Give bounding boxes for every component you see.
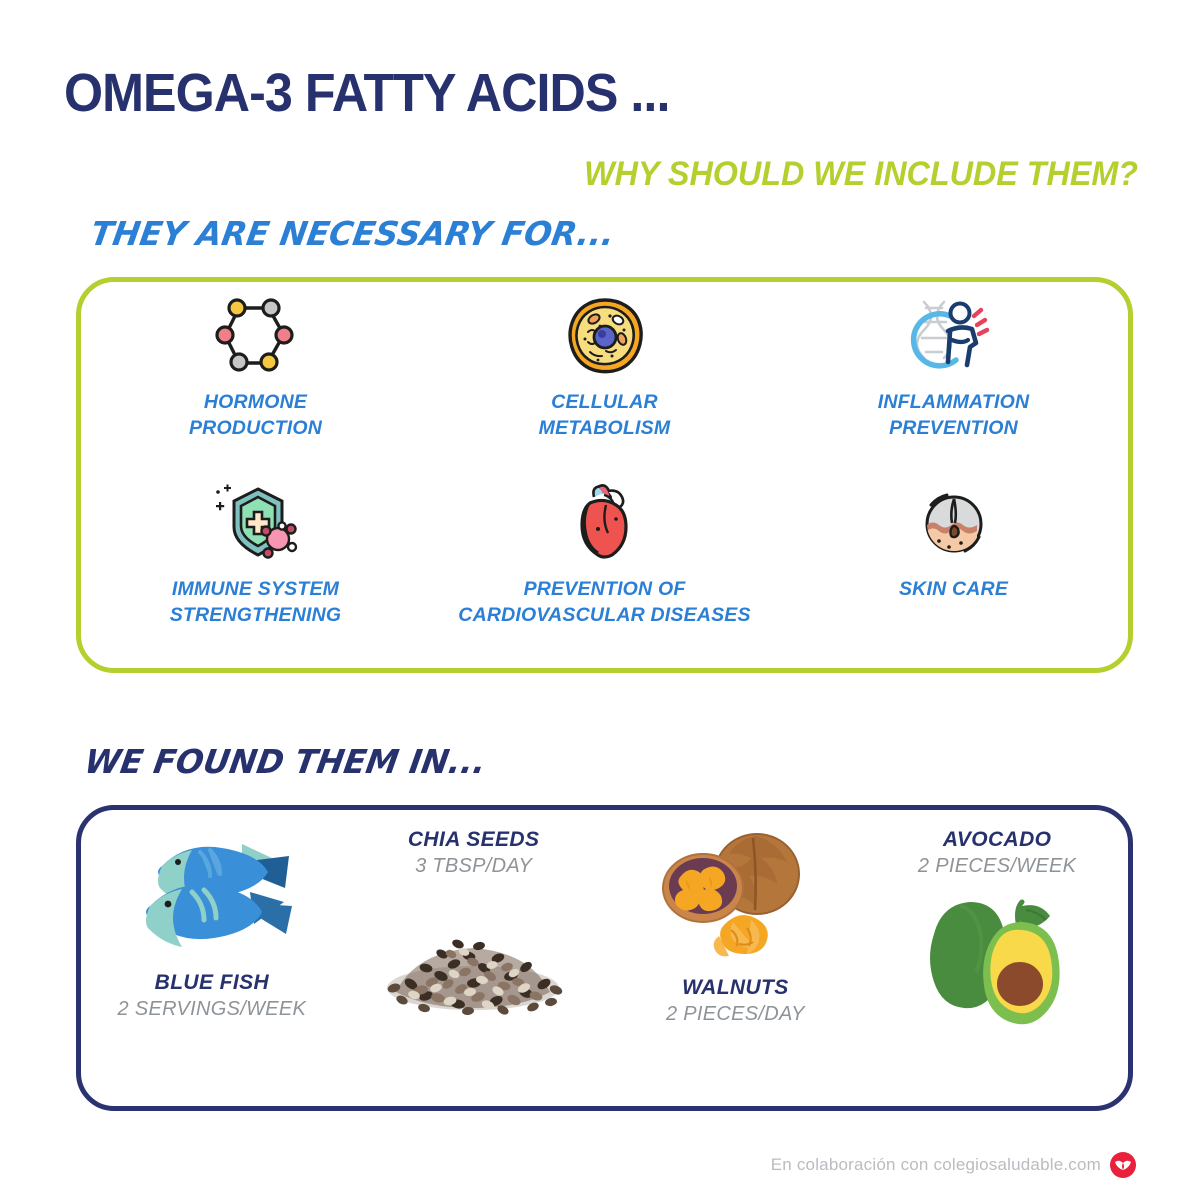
skin-layers-icon — [909, 481, 999, 567]
benefit-label: CELLULAR METABOLISM — [539, 390, 671, 441]
food-dose: 3 TBSP/DAY — [415, 855, 532, 878]
bird-logo-icon[interactable] — [1110, 1152, 1136, 1178]
avocado-icon — [910, 888, 1085, 1028]
chia-seeds-icon — [366, 888, 581, 1018]
footer: En colaboración con colegiosaludable.com — [771, 1152, 1136, 1178]
benefit-cardiovascular: PREVENTION OF CARDIOVASCULAR DISEASES — [430, 475, 779, 668]
benefits-section-heading: THEY ARE NECESSARY FOR... — [88, 214, 617, 253]
foods-section-heading: WE FOUND THEM IN... — [82, 742, 489, 781]
foods-card: BLUE FISH 2 SERVINGS/WEEK CHIA SEEDS 3 T… — [76, 805, 1133, 1111]
benefit-label: PREVENTION OF CARDIOVASCULAR DISEASES — [458, 577, 750, 628]
page-subtitle: WHY SHOULD WE INCLUDE THEM? — [584, 155, 1138, 194]
immune-shield-icon — [206, 481, 306, 567]
benefit-label: HORMONE PRODUCTION — [189, 390, 322, 441]
food-blue-fish: BLUE FISH 2 SERVINGS/WEEK — [81, 810, 343, 1106]
food-chia-seeds: CHIA SEEDS 3 TBSP/DAY — [343, 810, 605, 1106]
heart-icon — [560, 481, 650, 567]
cell-icon — [560, 294, 650, 380]
benefit-label: INFLAMMATION PREVENTION — [878, 390, 1030, 441]
blue-fish-icon — [122, 832, 302, 957]
walnuts-icon — [655, 832, 815, 962]
footer-credit-text: En colaboración con colegiosaludable.com — [771, 1155, 1101, 1175]
benefit-label: IMMUNE SYSTEM STRENGTHENING — [170, 577, 342, 628]
food-name: BLUE FISH — [155, 971, 269, 995]
foods-grid: BLUE FISH 2 SERVINGS/WEEK CHIA SEEDS 3 T… — [81, 810, 1128, 1106]
food-walnuts: WALNUTS 2 PIECES/DAY — [605, 810, 867, 1106]
food-name: WALNUTS — [682, 976, 789, 1000]
page-title: OMEGA-3 FATTY ACIDS ... — [64, 62, 669, 124]
hormone-molecule-icon — [211, 294, 301, 380]
food-dose: 2 PIECES/DAY — [666, 1003, 805, 1026]
food-dose: 2 PIECES/WEEK — [918, 855, 1076, 878]
food-dose: 2 SERVINGS/WEEK — [118, 998, 307, 1021]
food-name: AVOCADO — [943, 828, 1052, 852]
benefits-grid: HORMONE PRODUCTION — [81, 282, 1128, 668]
food-name: CHIA SEEDS — [408, 828, 540, 852]
inflammation-person-dna-icon — [904, 294, 1004, 380]
benefits-card: HORMONE PRODUCTION — [76, 277, 1133, 673]
benefit-skin-care: SKIN CARE — [779, 475, 1128, 668]
benefit-hormone-production: HORMONE PRODUCTION — [81, 282, 430, 475]
benefit-label: SKIN CARE — [899, 577, 1008, 603]
benefit-cellular-metabolism: CELLULAR METABOLISM — [430, 282, 779, 475]
benefit-immune-system: IMMUNE SYSTEM STRENGTHENING — [81, 475, 430, 668]
benefit-inflammation-prevention: INFLAMMATION PREVENTION — [779, 282, 1128, 475]
food-avocado: AVOCADO 2 PIECES/WEEK — [866, 810, 1128, 1106]
